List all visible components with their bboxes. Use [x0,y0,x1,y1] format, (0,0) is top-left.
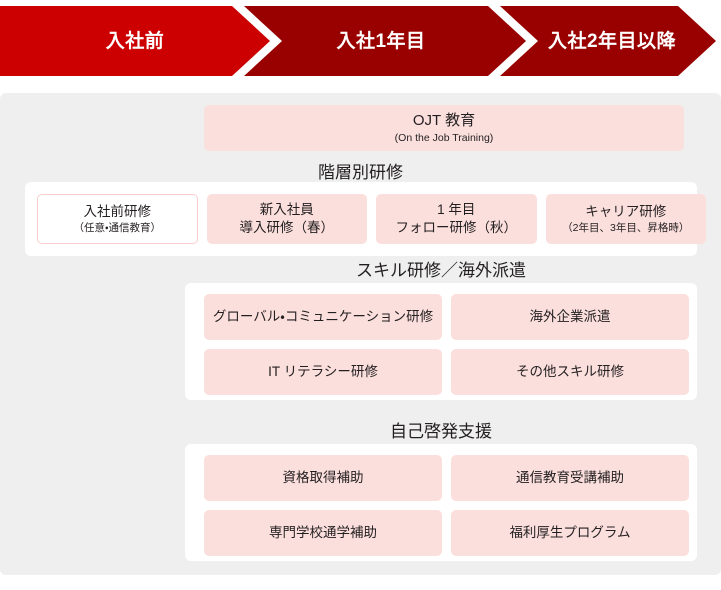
tier-chip-row: 入社前研修 （任意・通信教育） 新入社員 導入研修（春） 1 年目 フォロー研修… [37,194,706,244]
self-chip-vocational-school-support: 専門学校通学補助 [204,510,442,556]
phase-label-1: 入社前 [106,29,165,52]
skill-chip-other-skills-label: その他スキル研修 [516,363,624,381]
skill-chip-global-communication: グローバル・コミュニケーション研修 [204,294,442,340]
tier-chip-first-year-follow-sub: フォロー研修（秋） [396,219,518,237]
self-chip-welfare-program: 福利厚生プログラム [451,510,689,556]
training-program-diagram: 入社前 入社1年目 入社2年目以降 OJT 教育 (On the Job Tra… [0,0,721,590]
skill-chip-global-communication-label: グローバル・コミュニケーション研修 [213,308,433,326]
section-card-tier: 入社前研修 （任意・通信教育） 新入社員 導入研修（春） 1 年目 フォロー研修… [25,182,697,256]
skill-chip-other-skills: その他スキル研修 [451,349,689,395]
skill-chip-overseas-assignment-label: 海外企業派遣 [530,308,611,326]
tier-chip-first-year-follow-main: 1 年目 [437,201,475,219]
section-heading-tier: 階層別研修 [0,164,721,181]
self-chip-correspondence-course-support-label: 通信教育受講補助 [516,469,624,487]
ojt-box: OJT 教育 (On the Job Training) [204,105,684,151]
skill-chip-it-literacy: IT リテラシー研修 [204,349,442,395]
self-chip-qualification-support-label: 資格取得補助 [283,469,364,487]
section-card-self-development: 資格取得補助 通信教育受講補助 専門学校通学補助 福利厚生プログラム [185,444,697,561]
ojt-title: OJT 教育 [413,112,475,130]
phase-label-2: 入社1年目 [336,29,425,52]
ojt-subtitle: (On the Job Training) [395,132,494,145]
tier-chip-newcomer-sub: 導入研修（春） [240,219,335,237]
tier-chip-career-main: キャリア研修 [585,203,666,221]
tier-chip-pre-entry-sub: （任意・通信教育） [73,222,161,236]
self-chip-correspondence-course-support: 通信教育受講補助 [451,455,689,501]
self-chip-welfare-program-label: 福利厚生プログラム [509,524,630,542]
phase-chevrons-svg: 入社前 入社1年目 入社2年目以降 [0,0,721,82]
skill-chip-grid: グローバル・コミュニケーション研修 海外企業派遣 IT リテラシー研修 その他ス… [204,294,689,395]
tier-chip-career-sub: （2年目、3年目、昇格時） [562,222,689,236]
self-chip-qualification-support: 資格取得補助 [204,455,442,501]
phase-chevron-band: 入社前 入社1年目 入社2年目以降 [0,0,721,82]
tier-chip-newcomer: 新入社員 導入研修（春） [207,194,368,244]
skill-chip-it-literacy-label: IT リテラシー研修 [268,363,378,381]
self-development-chip-grid: 資格取得補助 通信教育受講補助 専門学校通学補助 福利厚生プログラム [204,455,689,556]
tier-chip-pre-entry-main: 入社前研修 [84,203,152,221]
phase-label-3: 入社2年目以降 [548,29,677,52]
tier-chip-newcomer-main: 新入社員 [260,201,314,219]
self-chip-vocational-school-support-label: 専門学校通学補助 [269,524,377,542]
section-card-skill: グローバル・コミュニケーション研修 海外企業派遣 IT リテラシー研修 その他ス… [185,283,697,400]
skill-chip-overseas-assignment: 海外企業派遣 [451,294,689,340]
section-heading-skill: スキル研修／海外派遣 [185,262,697,279]
section-heading-self-development: 自己啓発支援 [185,423,697,440]
tier-chip-first-year-follow: 1 年目 フォロー研修（秋） [376,194,537,244]
tier-chip-career: キャリア研修 （2年目、3年目、昇格時） [546,194,707,244]
tier-chip-pre-entry: 入社前研修 （任意・通信教育） [37,194,198,244]
